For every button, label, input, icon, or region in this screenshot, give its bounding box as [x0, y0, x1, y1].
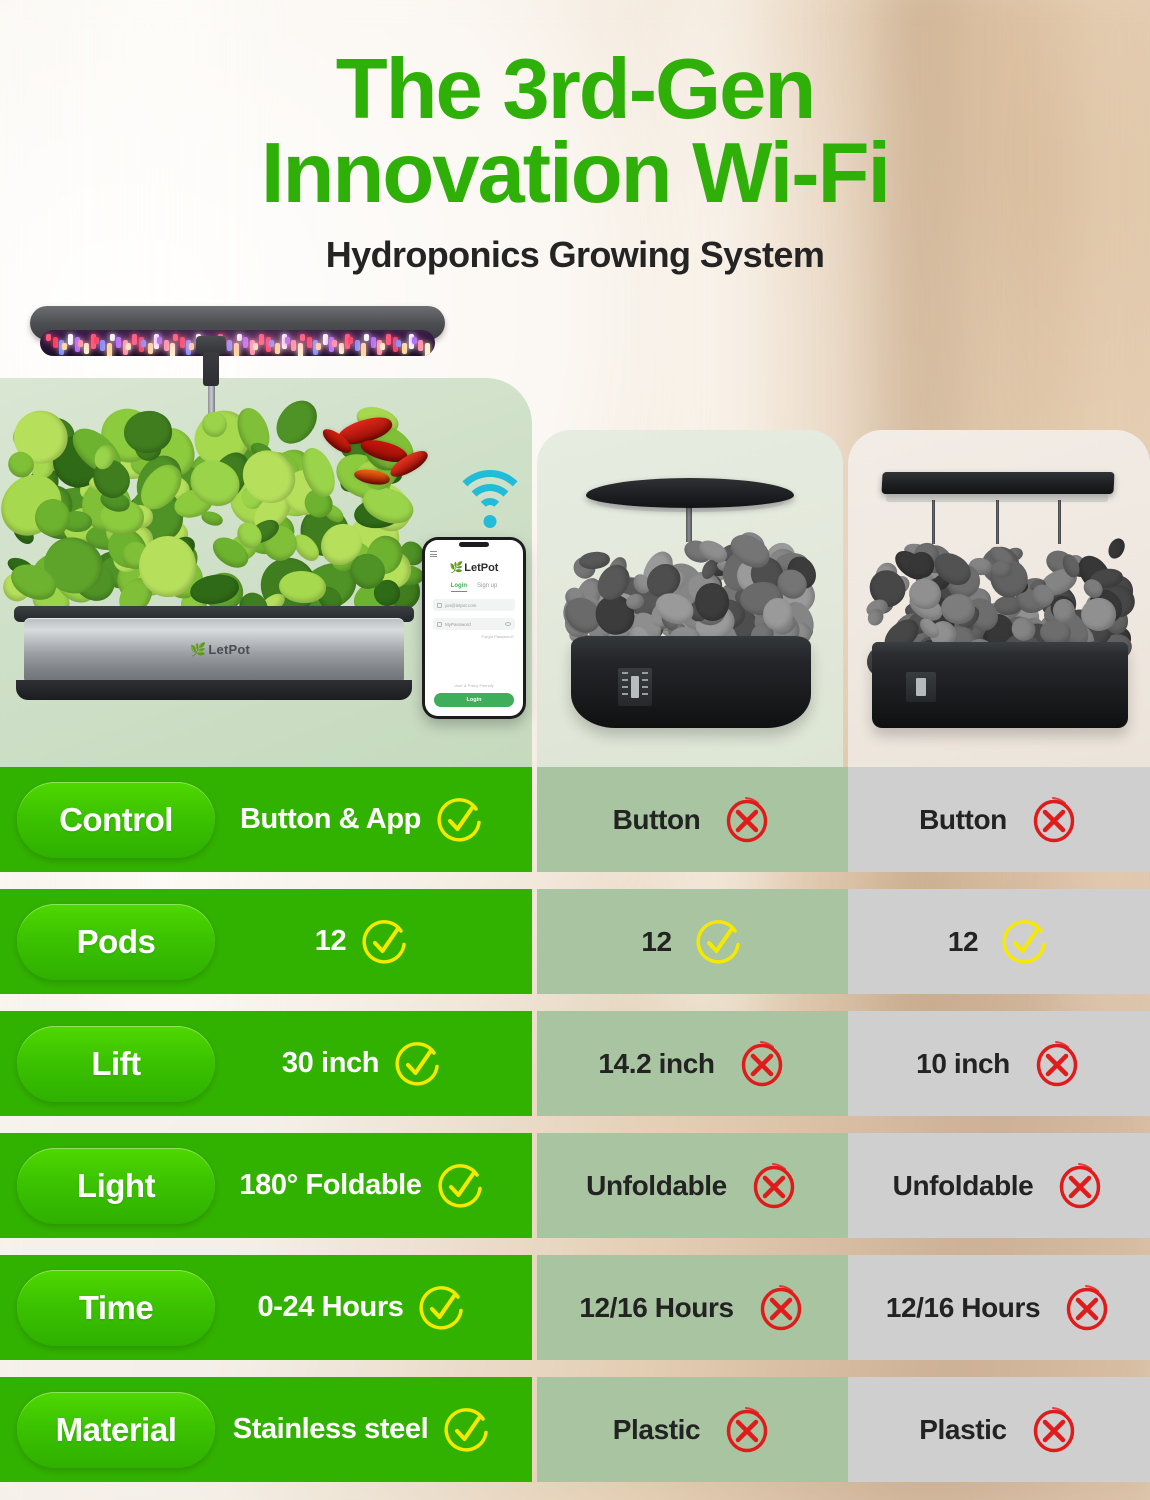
leaf-icon: 🌿	[190, 642, 206, 657]
competitor-2-control-panel	[906, 672, 936, 702]
check-icon	[442, 1405, 492, 1455]
page-title: The 3rd-Gen Innovation Wi-Fi	[0, 0, 1150, 216]
competitor-2-value: Unfoldable	[848, 1161, 1150, 1211]
row-competitor-1-cell: 12/16 Hours	[537, 1255, 848, 1360]
competitor-2-base-lid	[872, 642, 1128, 655]
row-letpot-cell: Pods12	[0, 889, 532, 994]
competitor-2-value-text: Button	[919, 804, 1007, 836]
check-icon	[435, 795, 485, 845]
phone-status-bar	[425, 540, 523, 549]
phone-notch	[459, 542, 489, 547]
letpot-value: 180° Foldable	[215, 1161, 532, 1211]
app-brand-name: LetPot	[464, 562, 498, 574]
row-letpot-cell: Time0-24 Hours	[0, 1255, 532, 1360]
check-icon	[694, 917, 744, 967]
table-row: Pods121212	[0, 889, 1150, 994]
cross-icon	[756, 1283, 806, 1333]
table-row: Time0-24 Hours12/16 Hours12/16 Hours	[0, 1255, 1150, 1360]
table-row: Light180° FoldableUnfoldableUnfoldable	[0, 1133, 1150, 1238]
feature-label: Material	[56, 1411, 177, 1449]
competitor-1-base	[571, 636, 811, 728]
competitor-2-light-post	[996, 500, 999, 544]
letpot-value-text: Button & App	[240, 803, 421, 836]
letpot-value: 12	[215, 917, 532, 967]
cross-icon	[722, 795, 772, 845]
row-letpot-cell: MaterialStainless steel	[0, 1377, 532, 1482]
competitor-1-value: 12/16 Hours	[537, 1283, 848, 1333]
table-row: ControlButton & AppButtonButton	[0, 767, 1150, 872]
email-value: jon@letpot.com	[445, 603, 476, 608]
product-showcase: 🌿LetPot 🌿LetPot Login Sign up jon@letpot…	[0, 290, 1150, 770]
check-icon	[436, 1161, 486, 1211]
row-competitor-1-cell: 12	[537, 889, 848, 994]
row-competitor-2-cell: Plastic	[848, 1377, 1150, 1482]
cross-icon	[737, 1039, 787, 1089]
led-glow	[38, 328, 438, 358]
letpot-value-text: Stainless steel	[233, 1413, 429, 1446]
feature-label-pill: Time	[17, 1270, 215, 1346]
cross-icon	[1029, 1405, 1079, 1455]
competitor-2-value: 10 inch	[848, 1039, 1150, 1089]
forgot-password-link[interactable]: Forgot Password?	[434, 634, 514, 639]
app-auth-tabs: Login Sign up	[425, 583, 523, 592]
planter-foot	[16, 680, 412, 700]
competitor-2-value: Plastic	[848, 1405, 1150, 1455]
row-competitor-2-cell: Button	[848, 767, 1150, 872]
competitor-1-display	[631, 676, 639, 698]
wifi-dot	[484, 515, 497, 528]
password-field[interactable]: MyPassword	[433, 618, 515, 630]
wifi-icon	[448, 468, 532, 530]
competitor-2-value: 12/16 Hours	[848, 1283, 1150, 1333]
page-subtitle: Hydroponics Growing System	[0, 234, 1150, 276]
competitor-1-value: 12	[537, 917, 848, 967]
competitor-2-value-text: 12/16 Hours	[886, 1292, 1040, 1324]
row-letpot-cell: ControlButton & App	[0, 767, 532, 872]
row-competitor-1-cell: Plastic	[537, 1377, 848, 1482]
check-icon	[393, 1039, 443, 1089]
row-competitor-2-cell: 10 inch	[848, 1011, 1150, 1116]
feature-label: Control	[59, 801, 173, 839]
hero-led-grow-light	[30, 306, 445, 358]
check-icon	[360, 917, 410, 967]
competitor-1-control-panel	[618, 668, 652, 706]
feature-label-pill: Pods	[17, 904, 215, 980]
letpot-value: Stainless steel	[215, 1405, 532, 1455]
tab-signup[interactable]: Sign up	[477, 583, 497, 592]
mail-icon	[437, 603, 442, 608]
competitor-2-value-text: 10 inch	[916, 1048, 1010, 1080]
feature-label: Lift	[91, 1045, 140, 1083]
email-field[interactable]: jon@letpot.com	[433, 599, 515, 611]
competitor-1-value: Button	[537, 795, 848, 845]
table-row: Lift30 inch14.2 inch10 inch	[0, 1011, 1150, 1116]
feature-label: Pods	[77, 923, 156, 961]
eye-icon[interactable]	[505, 622, 511, 626]
row-competitor-1-cell: 14.2 inch	[537, 1011, 848, 1116]
leaf-icon: 🌿	[450, 562, 464, 574]
lock-icon	[437, 622, 442, 627]
competitor-1-value-text: Button	[613, 804, 701, 836]
cross-icon	[1029, 795, 1079, 845]
competitor-2-light-post	[1058, 500, 1061, 544]
competitor-1-light-hood	[586, 478, 794, 508]
row-competitor-1-cell: Unfoldable	[537, 1133, 848, 1238]
letpot-value: 0-24 Hours	[215, 1283, 532, 1333]
phone-screen: 🌿LetPot Login Sign up jon@letpot.com MyP…	[425, 540, 523, 716]
tab-login[interactable]: Login	[451, 583, 467, 592]
light-arm-bracket	[203, 352, 219, 386]
feature-label: Light	[77, 1167, 155, 1205]
title-line-2: Innovation Wi-Fi	[0, 132, 1150, 216]
competitor-2-value-text: Unfoldable	[893, 1170, 1034, 1202]
competitor-2-value: 12	[848, 917, 1150, 967]
row-competitor-2-cell: Unfoldable	[848, 1133, 1150, 1238]
competitor-1-value-text: 14.2 inch	[598, 1048, 714, 1080]
login-button[interactable]: Login	[434, 693, 514, 707]
app-brand: 🌿LetPot	[425, 561, 523, 574]
cross-icon	[1032, 1039, 1082, 1089]
row-competitor-2-cell: 12/16 Hours	[848, 1255, 1150, 1360]
row-competitor-1-cell: Button	[537, 767, 848, 872]
competitor-2-light-hood	[881, 472, 1114, 494]
check-icon	[417, 1283, 467, 1333]
hero-planter-base: 🌿LetPot	[14, 606, 414, 702]
brand-name: LetPot	[208, 642, 250, 657]
competitor-2-light-post	[932, 500, 935, 544]
letpot-logo: 🌿LetPot	[190, 642, 250, 658]
competitor-2-value: Button	[848, 795, 1150, 845]
competitor-1-value-text: Unfoldable	[586, 1170, 727, 1202]
hamburger-menu-icon[interactable]	[430, 551, 437, 557]
password-value: MyPassword	[445, 622, 471, 627]
cross-icon	[722, 1405, 772, 1455]
table-row: MaterialStainless steelPlasticPlastic	[0, 1377, 1150, 1482]
letpot-value: 30 inch	[215, 1039, 532, 1089]
feature-label-pill: Lift	[17, 1026, 215, 1102]
feature-label-pill: Material	[17, 1392, 215, 1468]
check-icon	[1000, 917, 1050, 967]
competitor-2-value-text: 12	[948, 926, 978, 958]
comparison-table: ControlButton & AppButtonButtonPods12121…	[0, 767, 1150, 1500]
competitor-2-display	[916, 678, 926, 696]
header: The 3rd-Gen Innovation Wi-Fi Hydroponics…	[0, 0, 1150, 276]
row-letpot-cell: Light180° Foldable	[0, 1133, 532, 1238]
letpot-value: Button & App	[215, 795, 532, 845]
cross-icon	[1062, 1283, 1112, 1333]
competitor-1-value: Unfoldable	[537, 1161, 848, 1211]
competitor-2-value-text: Plastic	[919, 1414, 1006, 1446]
cross-icon	[749, 1161, 799, 1211]
hero-plants	[2, 398, 432, 620]
feature-label: Time	[79, 1289, 153, 1327]
policy-text: User & Policy Friendly	[425, 683, 523, 688]
letpot-value-text: 12	[315, 925, 346, 958]
competitor-1-value-text: 12	[641, 926, 671, 958]
letpot-value-text: 180° Foldable	[239, 1169, 421, 1202]
feature-label-pill: Light	[17, 1148, 215, 1224]
smartphone-app-preview: 🌿LetPot Login Sign up jon@letpot.com MyP…	[422, 537, 526, 719]
competitor-1-value: 14.2 inch	[537, 1039, 848, 1089]
competitor-1-value-text: Plastic	[613, 1414, 700, 1446]
competitor-1-value: Plastic	[537, 1405, 848, 1455]
title-line-1: The 3rd-Gen	[336, 42, 815, 137]
feature-label-pill: Control	[17, 782, 215, 858]
letpot-value-text: 0-24 Hours	[258, 1291, 404, 1324]
competitor-1-value-text: 12/16 Hours	[579, 1292, 733, 1324]
row-letpot-cell: Lift30 inch	[0, 1011, 532, 1116]
cross-icon	[1055, 1161, 1105, 1211]
letpot-value-text: 30 inch	[282, 1047, 379, 1080]
row-competitor-2-cell: 12	[848, 889, 1150, 994]
